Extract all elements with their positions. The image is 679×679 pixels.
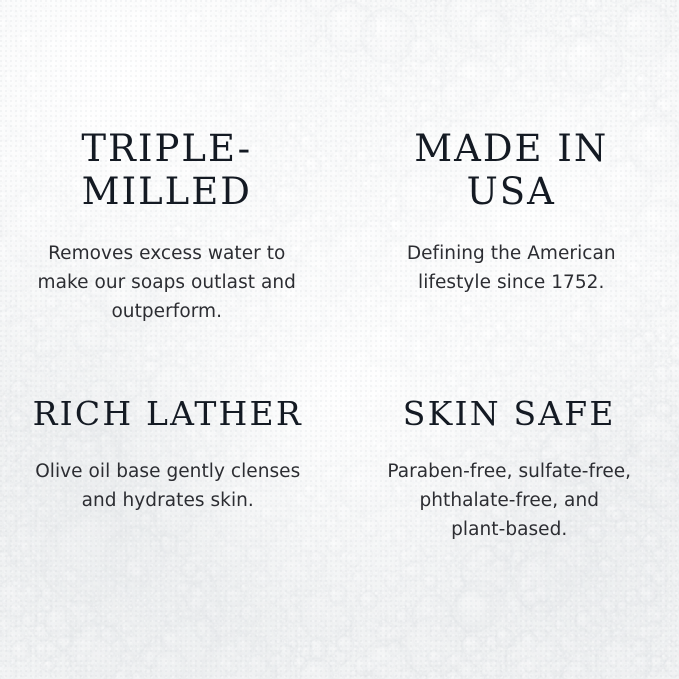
feature-skin-safe: SKIN SAFE Paraben-free, sulfate-free, ph… [340,340,679,679]
feature-rich-lather: RICH LATHER Olive oil base gently clense… [0,340,340,679]
feature-body-skin-safe: Paraben-free, sulfate-free, phthalate-fr… [387,457,631,544]
feature-made-in-usa: MADE IN USA Defining the American lifest… [340,0,679,340]
feature-grid: TRIPLE- MILLED Removes excess water to m… [0,0,679,679]
feature-graphic: TRIPLE- MILLED Removes excess water to m… [0,0,679,679]
feature-heading-triple-milled: TRIPLE- MILLED [81,127,252,213]
feature-heading-skin-safe: SKIN SAFE [403,392,616,435]
feature-body-triple-milled: Removes excess water to make our soaps o… [38,239,296,326]
feature-body-made-in-usa: Defining the American lifestyle since 17… [407,239,616,297]
feature-triple-milled: TRIPLE- MILLED Removes excess water to m… [0,0,340,340]
feature-heading-made-in-usa: MADE IN USA [414,127,608,213]
feature-body-rich-lather: Olive oil base gently clenses and hydrat… [35,457,300,515]
feature-heading-rich-lather: RICH LATHER [33,392,303,435]
